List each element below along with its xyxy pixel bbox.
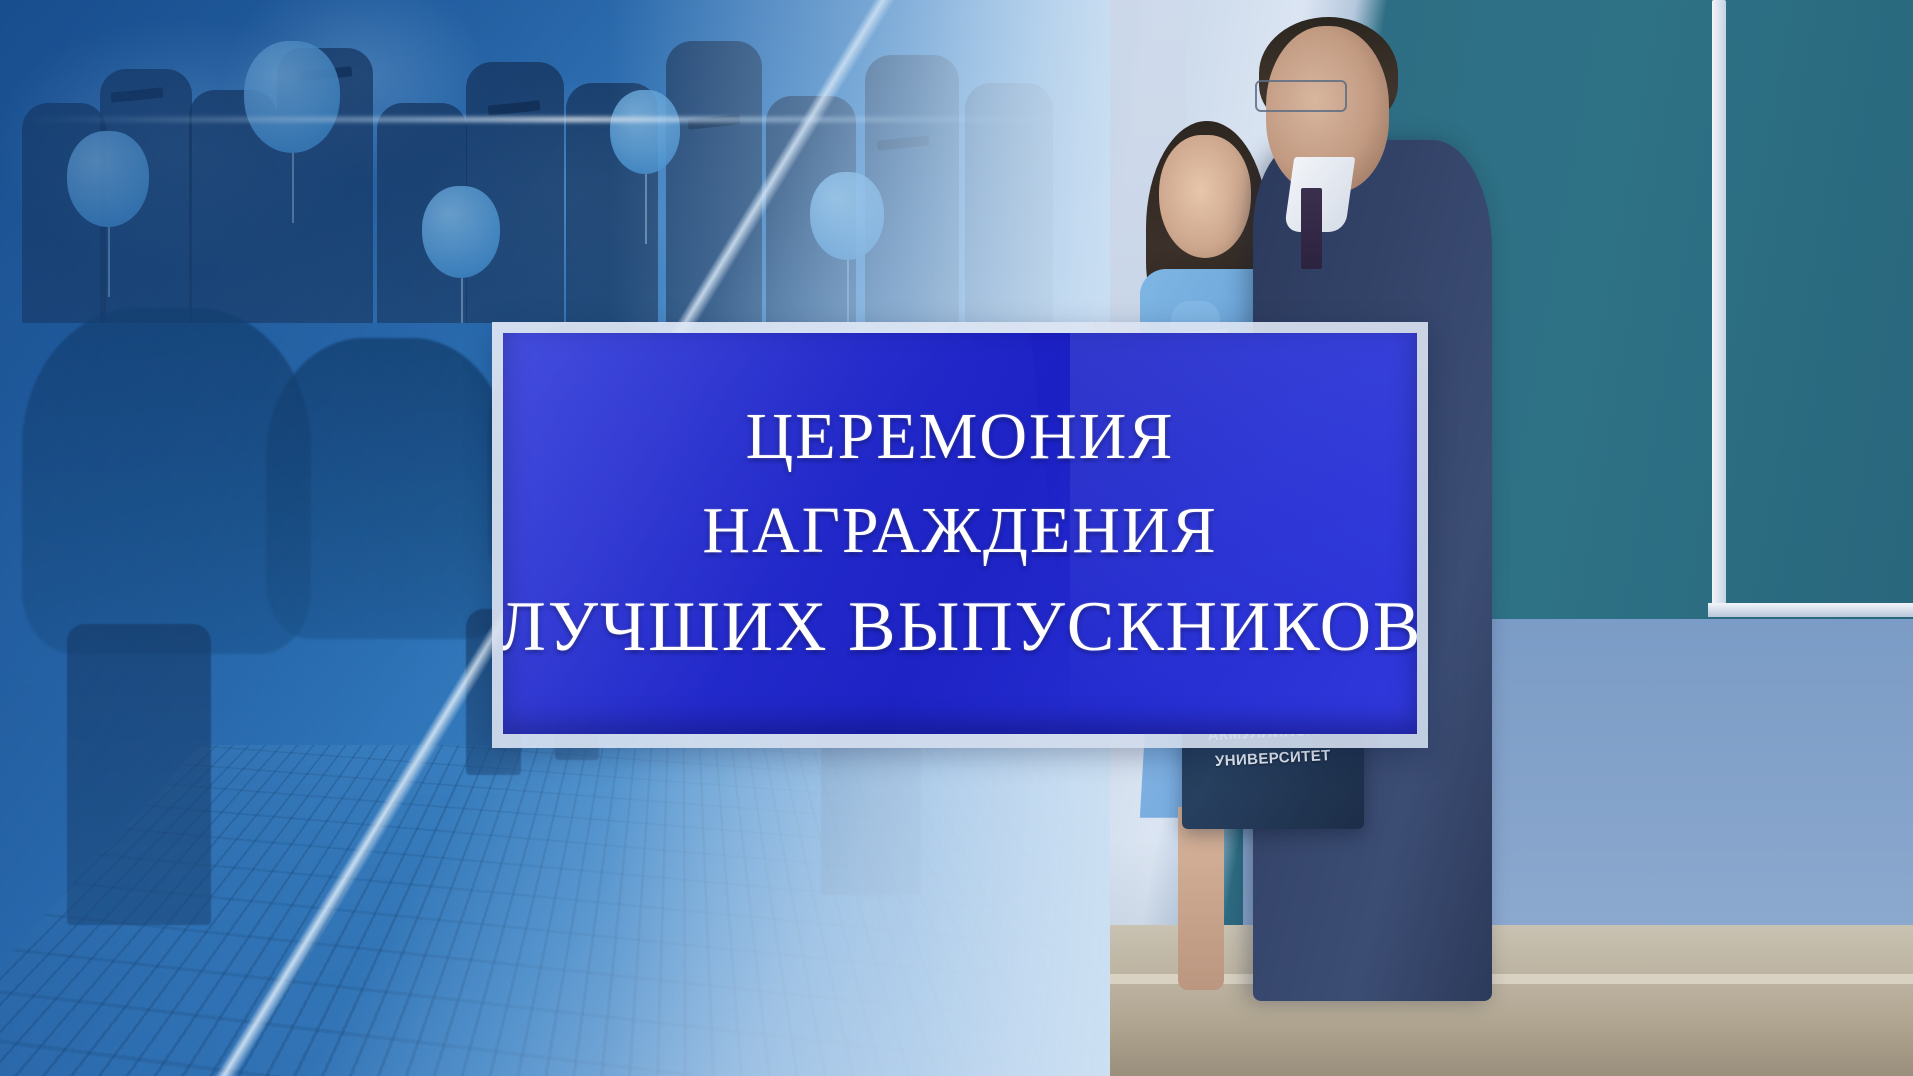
title-line-3: ЛУЧШИХ ВЫПУСКНИКОВ [503,590,1417,665]
title-line-1: ЦЕРЕМОНИЯ [746,402,1175,472]
title-banner-inner: ЦЕРЕМОНИЯ НАГРАЖДЕНИЯ ЛУЧШИХ ВЫПУСКНИКОВ [503,333,1417,734]
woman-leg [1178,807,1224,990]
woman-head [1159,135,1251,259]
man-necktie [1301,188,1322,269]
title-banner: ЦЕРЕМОНИЯ НАГРАЖДЕНИЯ ЛУЧШИХ ВЫПУСКНИКОВ [492,322,1428,748]
glasses-icon [1255,80,1347,112]
poster-canvas: АКМУЛЛИНСКИЙ УНИВЕРСИТЕТ [0,0,1913,1076]
chalkboard-rail-horizontal [1708,603,1913,617]
bag-logo-line-2: УНИВЕРСИТЕТ [1182,745,1364,771]
title-line-2: НАГРАЖДЕНИЯ [702,496,1217,566]
chalkboard-rail-vertical [1712,0,1726,613]
